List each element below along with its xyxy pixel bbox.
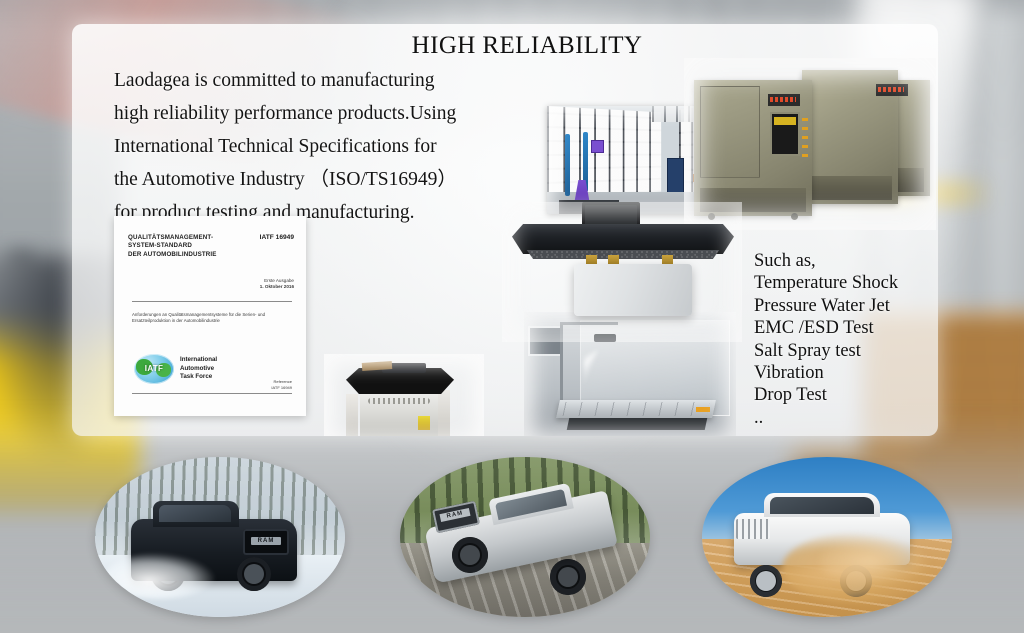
- oval2-front-hub: [460, 545, 480, 565]
- iatf-org-line-1: International: [180, 356, 217, 365]
- vehicle-oval-snow: RAM: [95, 457, 345, 617]
- test-list-lead: Such as,: [754, 250, 938, 272]
- iatf-certificate-image: QUALITÄTSMANAGEMENT- SYSTEM-STANDARD DER…: [114, 216, 306, 416]
- test-list: Such as, Temperature Shock Pressure Wate…: [754, 250, 938, 429]
- intro-paragraph: Laodagea is committed to manufacturing h…: [114, 64, 482, 229]
- certificate-title-line-2: SYSTEM-STANDARD: [128, 242, 217, 250]
- test-list-item-1: Pressure Water Jet: [754, 295, 938, 317]
- vehicle-oval-sand: [702, 457, 952, 617]
- test-list-item-3: Salt Spray test: [754, 340, 938, 362]
- certificate-reference-label: Reference: [271, 379, 292, 384]
- oval3-suv-grille: [736, 519, 770, 539]
- slide-canvas: HIGH RELIABILITY Laodagea is committed t…: [0, 0, 1024, 633]
- certificate-title-line-3: DER AUTOMOBILINDUSTRIE: [128, 251, 217, 259]
- oval3-suv-windows: [770, 497, 874, 514]
- certificate-body-line-2: Ersatzteilproduktion in der Automobilind…: [132, 318, 290, 324]
- oval3-front-wheel: [750, 565, 782, 597]
- intro-line-4: the Automotive Industry （ISO/TS16949）: [114, 163, 482, 196]
- iatf-logo: IATF International Automotive Task Force: [134, 354, 217, 384]
- certificate-reference: Reference IATF 16949: [271, 379, 292, 390]
- intro-line-2: high reliability performance products.Us…: [114, 97, 482, 130]
- oval1-front-hub: [244, 564, 264, 584]
- test-list-item-5: Drop Test: [754, 384, 938, 406]
- oval3-front-hub: [756, 571, 776, 591]
- vehicle-oval-rock: RAM: [400, 457, 650, 617]
- certificate-divider: [132, 301, 292, 302]
- intro-line-1: Laodagea is committed to manufacturing: [114, 64, 482, 97]
- certificate-standard-code: IATF 16949: [260, 234, 294, 259]
- drop-photo-vignette: [502, 202, 742, 342]
- intro-line-3: International Technical Specifications f…: [114, 130, 482, 163]
- certificate-edition-date: 1. Oktober 2016: [260, 284, 294, 290]
- globe-icon: IATF: [134, 354, 174, 384]
- test-list-item-2: EMC /ESD Test: [754, 317, 938, 339]
- certificate-reference-value: IATF 16949: [271, 385, 292, 390]
- test-list-ellipsis: ..: [754, 407, 938, 429]
- oval3-sand-spray-highlight: [820, 535, 930, 587]
- content-panel: HIGH RELIABILITY Laodagea is committed t…: [72, 24, 938, 436]
- drop-test-photo: [502, 202, 742, 342]
- oval2-rear-hub: [558, 567, 578, 587]
- certificate-body: Anforderungen an Qualitätsmanagementsyst…: [132, 312, 290, 325]
- certificate-title: QUALITÄTSMANAGEMENT- SYSTEM-STANDARD DER…: [128, 234, 217, 259]
- iatf-org-line-2: Automotive: [180, 365, 217, 374]
- iatf-org-name: International Automotive Task Force: [180, 356, 217, 382]
- oval1-truck-badge: RAM: [251, 537, 281, 545]
- oval2-front-wheel: [452, 537, 488, 573]
- iatf-org-line-3: Task Force: [180, 373, 217, 382]
- certificate-edition: Erste Ausgabe 1. Oktober 2016: [260, 278, 294, 291]
- oval1-truck-windows: [159, 505, 231, 522]
- oval1-front-wheel: [237, 557, 271, 591]
- certificate-divider-bottom: [132, 393, 292, 394]
- oval1-snow-spray: [105, 553, 215, 599]
- shaker-photo-vignette: [324, 354, 484, 436]
- page-title: HIGH RELIABILITY: [362, 32, 692, 60]
- test-list-item-4: Vibration: [754, 362, 938, 384]
- iatf-logo-abbr: IATF: [134, 364, 174, 373]
- certificate-title-line-1: QUALITÄTSMANAGEMENT-: [128, 234, 217, 242]
- test-list-item-0: Temperature Shock: [754, 272, 938, 294]
- certificate-header: QUALITÄTSMANAGEMENT- SYSTEM-STANDARD DER…: [128, 234, 294, 259]
- oval2-rear-wheel: [550, 559, 586, 595]
- vibration-shaker-photo: [324, 354, 484, 436]
